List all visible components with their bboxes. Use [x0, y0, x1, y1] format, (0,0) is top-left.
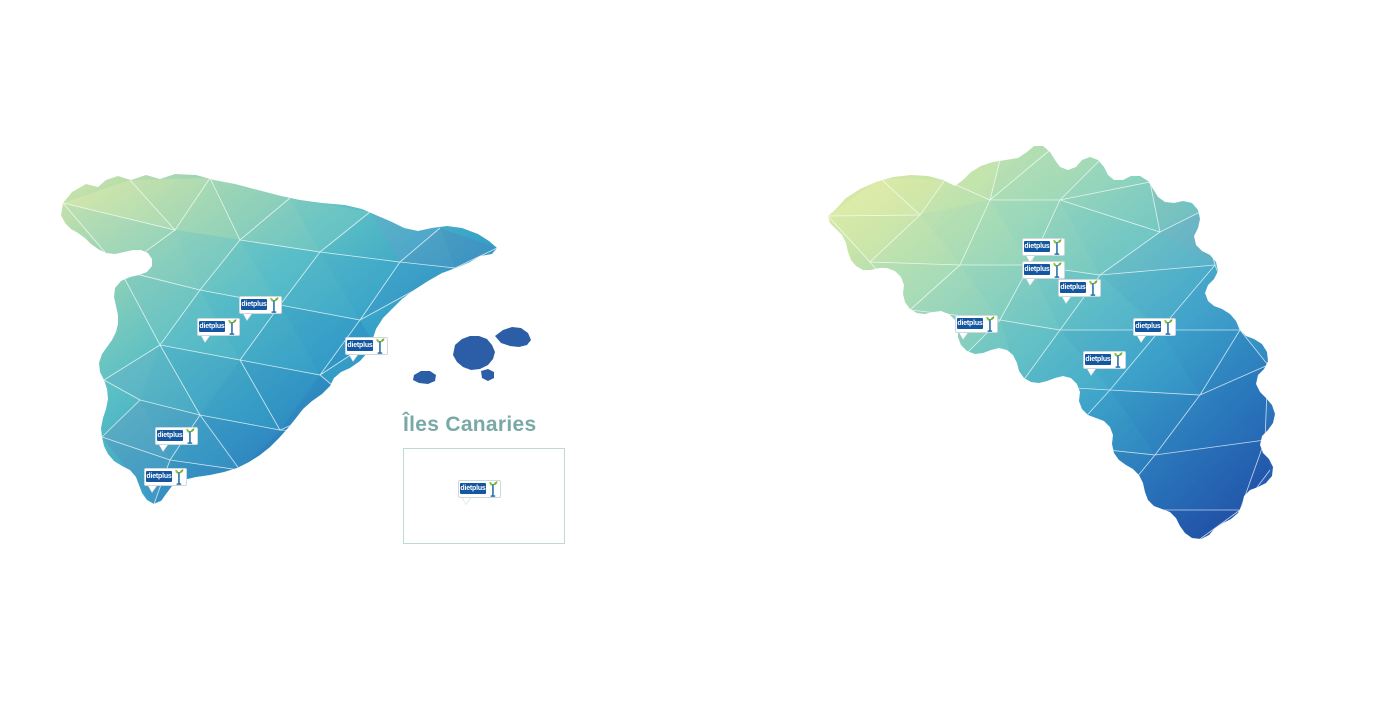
marker-label: dietplus	[199, 323, 224, 331]
map-stage: Îles Canaries dietplus dietplus dietplus	[0, 0, 1394, 720]
marker-tail	[959, 332, 968, 339]
belgium-polygons	[815, 140, 1285, 550]
marker-tail	[148, 485, 157, 492]
marker-tail	[201, 335, 210, 342]
marker-dietplus[interactable]: dietplus	[197, 318, 240, 342]
belgium-map	[0, 0, 1394, 720]
marker-label: dietplus	[1135, 323, 1160, 331]
marker-badge: dietplus	[1024, 264, 1050, 275]
sprout-icon	[269, 296, 280, 313]
marker-tail	[1087, 368, 1096, 375]
marker-badge: dietplus	[1135, 321, 1161, 332]
marker-dietplus[interactable]: dietplus	[144, 468, 187, 492]
marker-badge: dietplus	[157, 430, 183, 441]
marker-badge: dietplus	[957, 318, 983, 329]
marker-badge: dietplus	[241, 299, 267, 310]
marker-label: dietplus	[1085, 356, 1110, 364]
marker-tail	[1137, 335, 1146, 342]
marker-badge: dietplus	[347, 340, 373, 351]
marker-tail	[1026, 278, 1035, 285]
sprout-icon	[185, 427, 196, 444]
marker-label: dietplus	[1024, 266, 1049, 274]
sprout-icon	[1113, 351, 1124, 368]
marker-label: dietplus	[1060, 284, 1085, 292]
marker-dietplus[interactable]: dietplus	[1022, 238, 1065, 262]
marker-tail	[462, 497, 471, 504]
marker-label: dietplus	[146, 473, 171, 481]
sprout-icon	[1052, 261, 1063, 278]
marker-label: dietplus	[347, 342, 372, 350]
marker-dietplus[interactable]: dietplus	[1133, 318, 1176, 342]
marker-tail	[349, 354, 358, 361]
sprout-icon	[1088, 279, 1099, 296]
sprout-icon	[985, 315, 996, 332]
marker-badge: dietplus	[199, 321, 225, 332]
canaries-inset-title: Îles Canaries	[403, 413, 603, 437]
marker-dietplus[interactable]: dietplus	[155, 427, 198, 451]
sprout-icon	[174, 468, 185, 485]
marker-tail	[1062, 296, 1071, 303]
marker-label: dietplus	[241, 301, 266, 309]
marker-dietplus[interactable]: dietplus	[458, 480, 501, 504]
marker-label: dietplus	[957, 320, 982, 328]
marker-label: dietplus	[460, 485, 485, 493]
marker-dietplus[interactable]: dietplus	[239, 296, 282, 320]
marker-dietplus[interactable]: dietplus	[1058, 279, 1101, 303]
marker-badge: dietplus	[1060, 282, 1086, 293]
sprout-icon	[1052, 238, 1063, 255]
marker-badge: dietplus	[460, 483, 486, 494]
marker-label: dietplus	[1024, 243, 1049, 251]
sprout-icon	[375, 337, 386, 354]
marker-badge: dietplus	[1085, 354, 1111, 365]
marker-badge: dietplus	[1024, 241, 1050, 252]
marker-dietplus[interactable]: dietplus	[345, 337, 388, 361]
marker-dietplus[interactable]: dietplus	[955, 315, 998, 339]
marker-badge: dietplus	[146, 471, 172, 482]
sprout-icon	[227, 318, 238, 335]
marker-dietplus[interactable]: dietplus	[1083, 351, 1126, 375]
sprout-icon	[1163, 318, 1174, 335]
sprout-icon	[488, 480, 499, 497]
marker-tail	[243, 313, 252, 320]
marker-tail	[159, 444, 168, 451]
marker-label: dietplus	[157, 432, 182, 440]
